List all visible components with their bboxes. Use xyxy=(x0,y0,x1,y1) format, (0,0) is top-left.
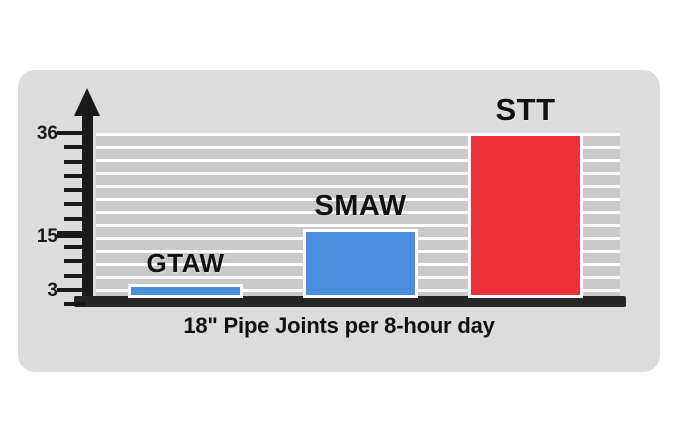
y-tick-label-3: 3 xyxy=(18,281,58,300)
y-axis-minor-tick xyxy=(64,145,86,149)
y-tick-label-36: 36 xyxy=(18,124,58,143)
y-axis-minor-tick xyxy=(64,202,86,206)
y-axis-minor-tick xyxy=(64,302,86,306)
bar-gtaw[interactable] xyxy=(128,284,243,298)
bar-smaw[interactable] xyxy=(303,229,418,298)
y-axis-minor-tick xyxy=(64,259,86,263)
bar-label-gtaw: GTAW xyxy=(98,250,273,276)
y-axis-major-tick xyxy=(57,288,86,292)
y-axis-minor-tick xyxy=(64,274,86,278)
bar-label-stt: STT xyxy=(438,94,613,125)
y-axis-minor-tick xyxy=(64,217,86,221)
bar-label-smaw: SMAW xyxy=(273,192,448,221)
y-axis-minor-tick xyxy=(64,174,86,178)
y-tick-label-15: 15 xyxy=(18,227,58,246)
y-axis-major-tick xyxy=(57,234,86,238)
y-axis-minor-tick xyxy=(64,160,86,164)
y-axis-arrow-icon xyxy=(74,88,100,116)
chart-figure: 36 15 3 GTAW SMAW STT 18" Pipe Joints pe… xyxy=(0,0,680,430)
y-axis-minor-tick xyxy=(64,188,86,192)
y-axis-major-tick xyxy=(57,131,86,135)
chart-caption: 18" Pipe Joints per 8-hour day xyxy=(18,313,660,339)
y-axis-minor-tick xyxy=(64,245,86,249)
bar-stt[interactable] xyxy=(468,133,583,298)
